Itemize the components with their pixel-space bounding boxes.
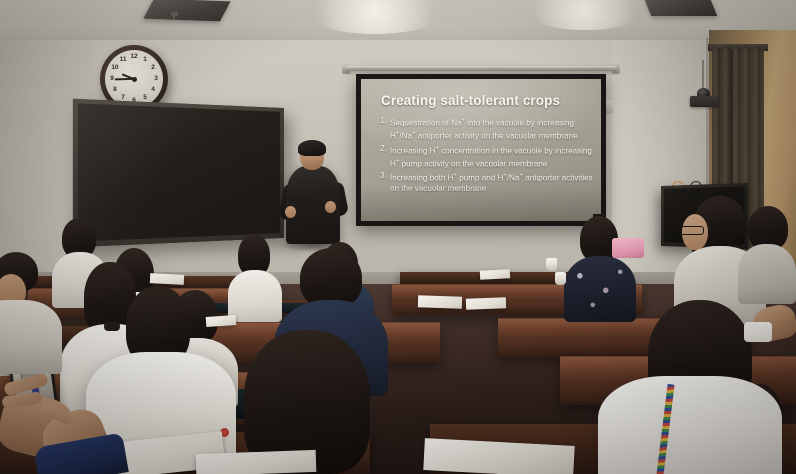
glasses-icon [680, 226, 704, 235]
handout-paper[interactable] [418, 295, 462, 309]
paper-cup [546, 258, 557, 271]
slide-bullet-text: Increasing H+ concentration in the vacuo… [390, 144, 593, 171]
projection-screen: Creating salt-tolerant crops 1.Sequestra… [356, 74, 606, 226]
slide-bullet: 2.Increasing H+ concentration in the vac… [380, 144, 593, 171]
blackboard-surface [78, 103, 280, 241]
slide-bullet: 1.Sequestration of Na+ into the vacuole … [380, 116, 593, 143]
handout-paper[interactable] [480, 269, 510, 280]
notebook-page[interactable] [196, 450, 317, 474]
handout-paper[interactable] [206, 315, 237, 327]
pink-bag [612, 238, 644, 258]
screen-mounting-rod [345, 66, 617, 71]
sprinkler-icon [171, 12, 178, 16]
blackboard-glare [78, 103, 280, 241]
camera-mount-stem [702, 60, 704, 90]
handout-paper[interactable] [150, 273, 184, 285]
paper-cup [555, 272, 566, 285]
hair-tie [104, 322, 120, 331]
presenter-right-hand [325, 201, 336, 213]
clock-face: 121234567891011 [105, 50, 163, 108]
clock-numeral: 2 [148, 64, 158, 72]
slide-title: Creating salt-tolerant crops [381, 93, 591, 108]
ceiling-vent-icon [645, 0, 717, 16]
wall-camera-body [690, 96, 718, 107]
clock-numeral: 3 [151, 75, 161, 83]
clock-numeral: 4 [148, 86, 158, 94]
handout-paper[interactable] [466, 297, 506, 309]
ceiling-vent-icon [143, 0, 230, 21]
clock-numeral: 11 [118, 56, 128, 64]
slide-surface: Creating salt-tolerant crops 1.Sequestra… [361, 79, 601, 221]
slide-bullet-number: 3. [380, 171, 390, 182]
presenter-left-hand [285, 206, 296, 218]
blackboard [73, 99, 284, 248]
clock-numeral: 10 [110, 64, 120, 72]
presenter-hair [298, 140, 326, 156]
cuff [744, 322, 772, 342]
lecture-room-photograph: 121234567891011 Creating salt-tolerant c… [0, 0, 796, 474]
clock-numeral: 12 [129, 53, 139, 61]
slide-bullet-text: Sequestration of Na+ into the vacuole by… [390, 116, 593, 143]
slide-shadow [361, 184, 601, 221]
slide-bullet-number: 2. [380, 144, 390, 155]
clock-numeral: 8 [110, 86, 120, 94]
clock-numeral: 1 [140, 56, 150, 64]
slide-bullet-number: 1. [380, 116, 390, 127]
